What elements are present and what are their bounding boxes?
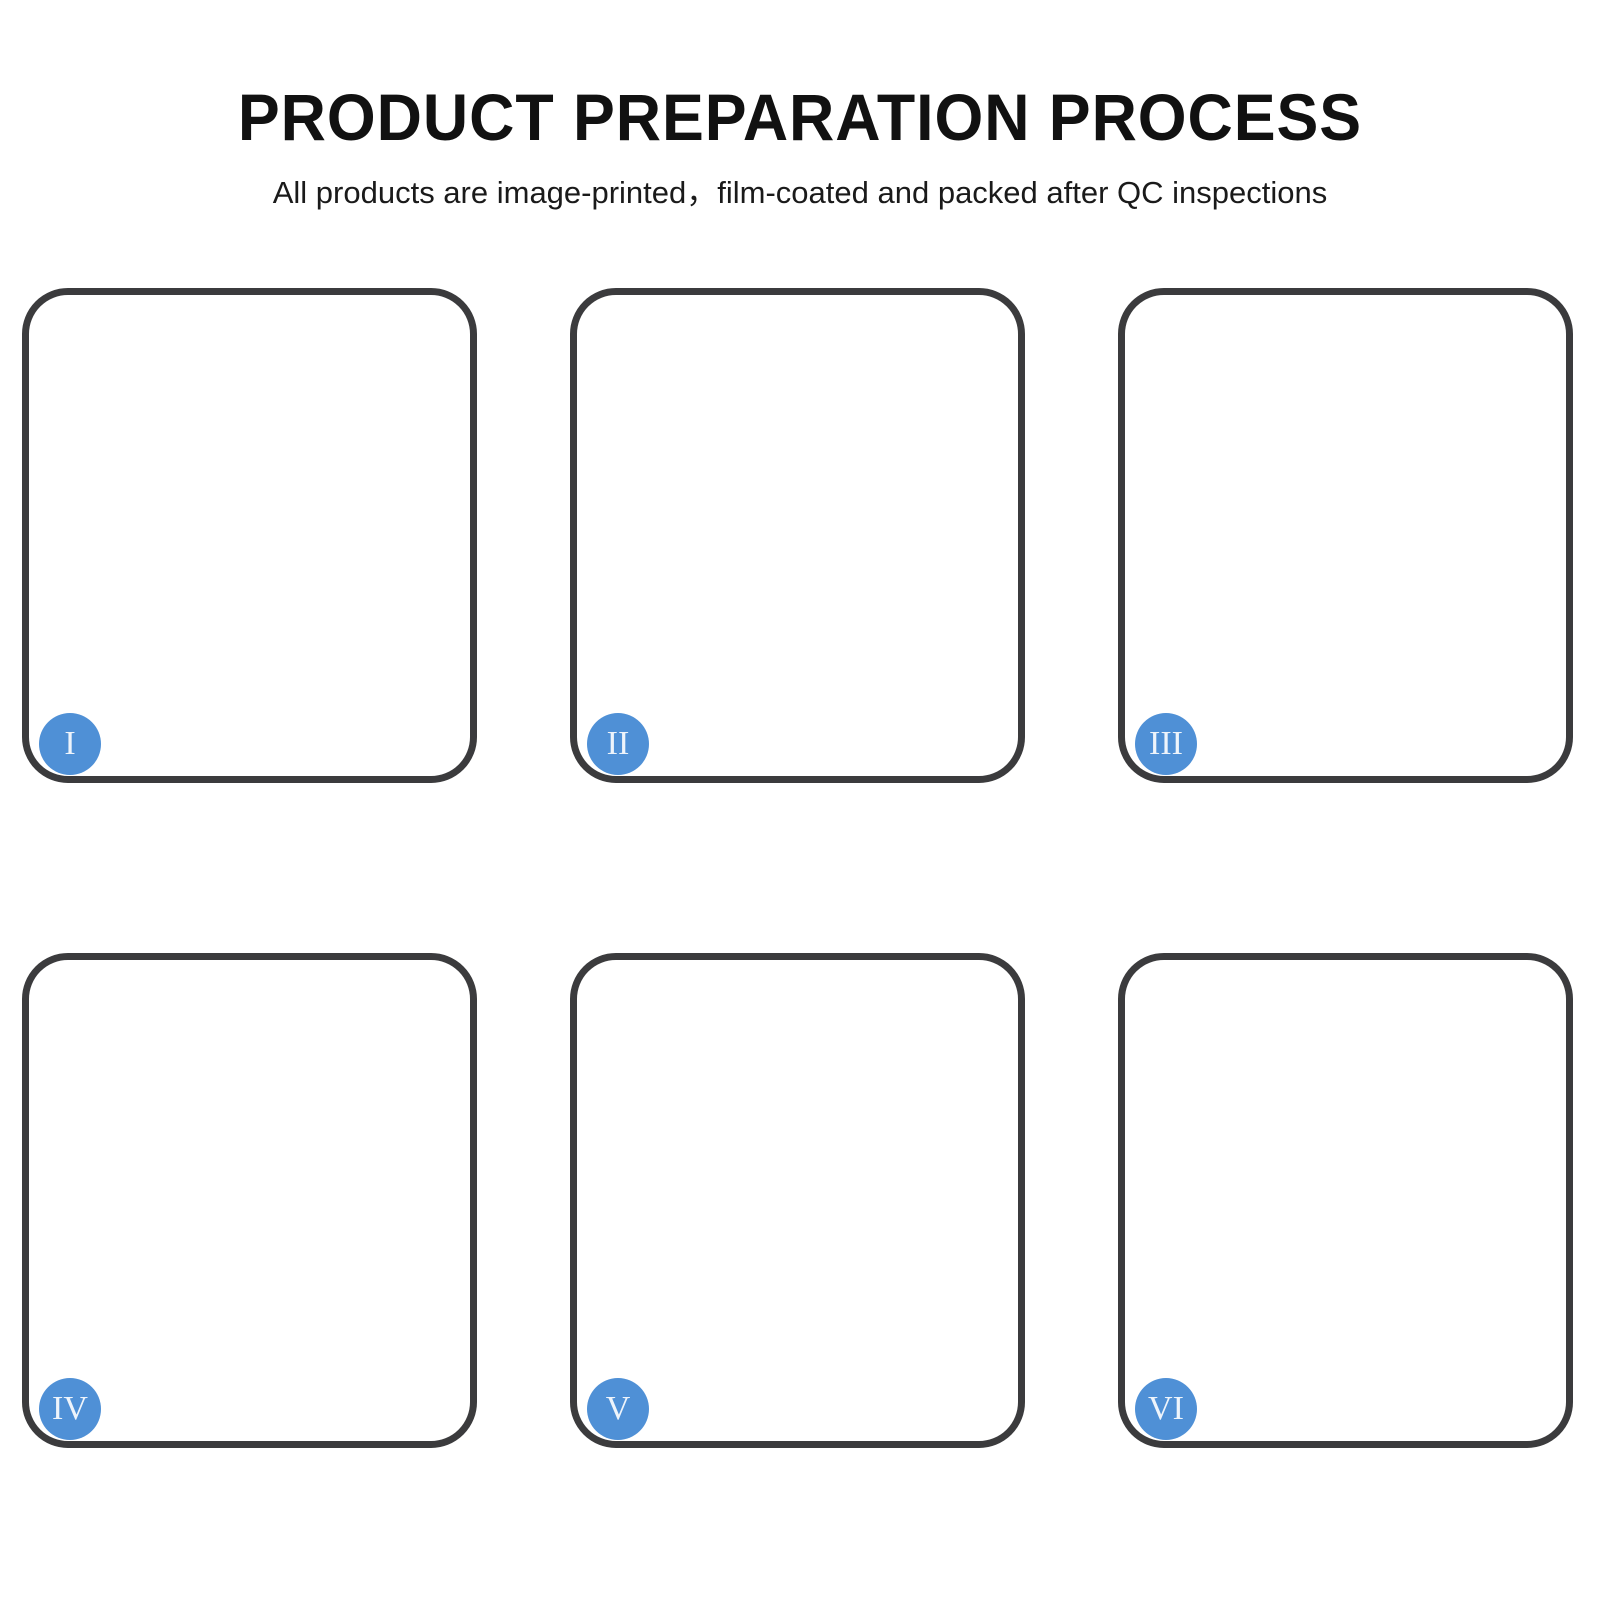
- step-badge-2: II: [587, 713, 649, 775]
- step-badge-1: I: [39, 713, 101, 775]
- infographic-page: PRODUCT PREPARATION PROCESS All products…: [0, 0, 1600, 1600]
- panel-border: [1118, 953, 1573, 1448]
- page-subtitle: All products are image-printed，film-coat…: [0, 176, 1600, 210]
- panel-border: [22, 953, 477, 1448]
- page-title: PRODUCT PREPARATION PROCESS: [40, 84, 1560, 150]
- panel-border: [22, 288, 477, 783]
- process-step-panel-2: II: [570, 288, 1025, 783]
- panel-border: [1118, 288, 1573, 783]
- process-step-panel-6: VI: [1118, 953, 1573, 1448]
- step-badge-5: V: [587, 1378, 649, 1440]
- step-badge-3: III: [1135, 713, 1197, 775]
- header: PRODUCT PREPARATION PROCESS All products…: [0, 0, 1600, 210]
- panel-border: [570, 953, 1025, 1448]
- panel-border: [570, 288, 1025, 783]
- step-badge-6: VI: [1135, 1378, 1197, 1440]
- process-steps-grid: I: [22, 288, 1578, 1448]
- process-step-panel-5: V: [570, 953, 1025, 1448]
- step-badge-4: IV: [39, 1378, 101, 1440]
- process-step-panel-1: I: [22, 288, 477, 783]
- process-step-panel-3: III: [1118, 288, 1573, 783]
- process-step-panel-4: Mobile Phone Spare Parts LCD Digitizer T…: [22, 953, 477, 1448]
